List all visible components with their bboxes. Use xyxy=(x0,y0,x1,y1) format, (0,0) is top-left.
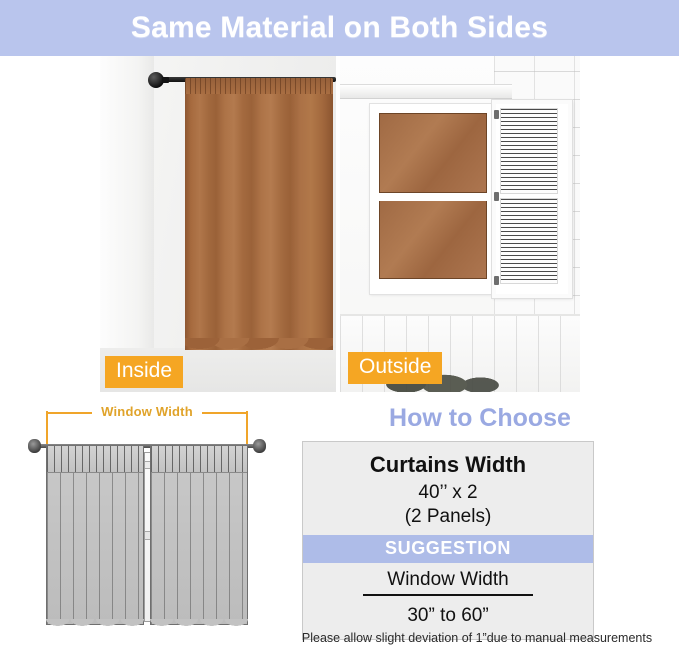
window-frame xyxy=(370,104,498,294)
shutter-hinge-top xyxy=(494,110,499,119)
photo-inside: Inside xyxy=(100,56,336,392)
table-row-panels: (2 Panels) xyxy=(303,505,593,529)
diagram-panel-left xyxy=(46,446,144,625)
window-pane-top xyxy=(379,113,487,193)
diagram-finial-left-icon xyxy=(28,439,41,453)
rod-finial-neck xyxy=(162,77,169,83)
table-row-size: 40’’ x 2 xyxy=(303,481,593,505)
dimension-line-right xyxy=(202,412,248,414)
diagram-panel-left-header xyxy=(47,446,143,473)
suggestion-bar: SUGGESTION xyxy=(303,535,593,563)
diagram-panel-right-hem xyxy=(150,619,248,633)
measurement-note: Please allow slight deviation of 1”due t… xyxy=(288,631,666,645)
photo-outside: Outside xyxy=(340,56,580,392)
table-row-measure: Window Width xyxy=(303,563,593,599)
diagram-panel-right-header xyxy=(151,446,247,473)
how-to-choose-block: How to Choose Curtains Width 40’’ x 2 (2… xyxy=(288,404,666,650)
dimension-line-left xyxy=(46,412,92,414)
lower-section: Window Width How to Choose xyxy=(0,392,679,655)
diagram-panel-right xyxy=(150,446,248,625)
wall-edge xyxy=(100,56,154,392)
shutter-louvers-top xyxy=(500,108,558,194)
diagram-panel-left-hem xyxy=(46,619,144,633)
shutter-louvers-bottom xyxy=(500,198,558,284)
window-shutter xyxy=(492,100,572,298)
how-to-choose-title: How to Choose xyxy=(288,404,666,433)
window-width-diagram: Window Width xyxy=(22,400,272,640)
curtain-rod-pocket xyxy=(185,78,333,94)
brown-curtain xyxy=(185,78,333,350)
shutter-hinge-bottom xyxy=(494,276,499,285)
photo-row: Inside Outside xyxy=(0,56,679,392)
infographic-page: Same Material on Both Sides Inside xyxy=(0,0,679,655)
table-row-range: 30” to 60” xyxy=(303,599,593,629)
exterior-trim xyxy=(340,84,512,99)
diagram-finial-right-icon xyxy=(253,439,266,453)
badge-outside: Outside xyxy=(348,352,442,384)
badge-inside: Inside xyxy=(105,356,183,388)
page-title: Same Material on Both Sides xyxy=(131,11,548,45)
shutter-hinge-middle xyxy=(494,192,499,201)
curtain-hem xyxy=(185,338,333,360)
header-banner: Same Material on Both Sides xyxy=(0,0,679,56)
size-table: Curtains Width 40’’ x 2 (2 Panels) SUGGE… xyxy=(302,441,594,640)
table-row-heading: Curtains Width xyxy=(303,448,593,481)
table-row-measure-label: Window Width xyxy=(363,569,532,596)
window-mullion xyxy=(375,193,493,201)
window-pane-bottom xyxy=(379,199,487,279)
